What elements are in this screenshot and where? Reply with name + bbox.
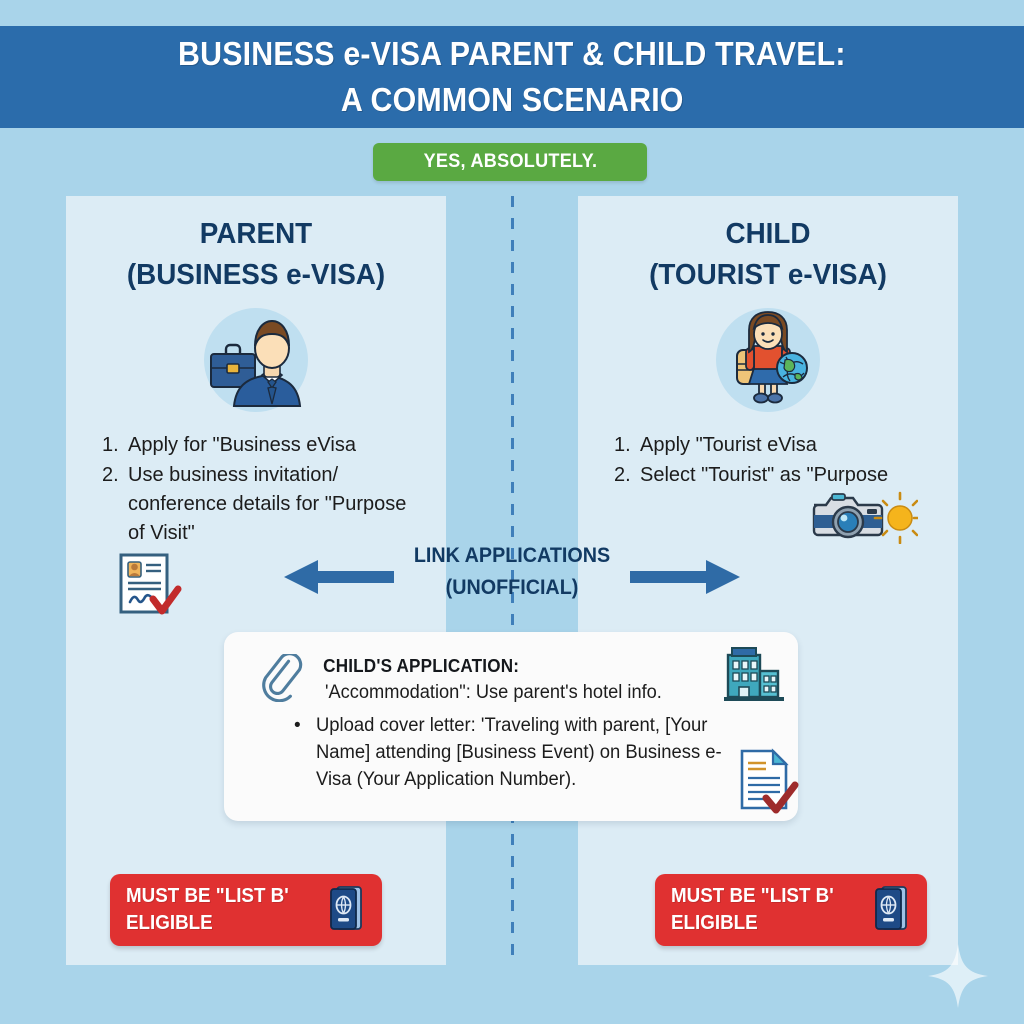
child-title-line-2: (TOURIST e-VISA) xyxy=(586,255,951,296)
list-item: 2. Select "Tourist" as "Purpose xyxy=(614,461,934,490)
hotel-building-icon xyxy=(722,645,786,708)
child-step-1-text: Apply "Tourist eVisa xyxy=(640,431,934,460)
banner-left-label: MUST BE "LIST B' ELIGIBLE xyxy=(110,883,315,937)
answer-badge: YES, ABSOLUTELY. xyxy=(373,143,647,181)
list-b-banner-child: MUST BE "LIST B' ELIGIBLE xyxy=(655,874,927,946)
parent-column-title: PARENT (BUSINESS e-VISA) xyxy=(74,214,439,296)
paperclip-icon xyxy=(262,654,306,707)
parent-steps-list: 1. Apply for "Business eVisa 2. Use busi… xyxy=(102,431,422,549)
parent-title-line-2: (BUSINESS e-VISA) xyxy=(74,255,439,296)
link-label-line-1: LINK APPLICATIONS xyxy=(405,540,619,572)
id-document-signed-icon xyxy=(118,552,184,627)
parent-step-2-number: 2. xyxy=(102,461,128,548)
banner-left-line-1: MUST BE "LIST B' xyxy=(126,883,315,910)
page-title-line-1: BUSINESS e-VISA PARENT & CHILD TRAVEL: xyxy=(178,31,846,77)
banner-left-line-2: ELIGIBLE xyxy=(126,910,315,937)
child-column-title: CHILD (TOURIST e-VISA) xyxy=(586,214,951,296)
childs-application-callout: CHILD'S APPLICATION: 'Accommodation": Us… xyxy=(224,632,798,821)
banner-right-line-1: MUST BE "LIST B' xyxy=(671,883,860,910)
parent-title-line-1: PARENT xyxy=(200,218,312,250)
link-applications-label: LINK APPLICATIONS (UNOFFICIAL) xyxy=(405,540,619,604)
callout-subline: 'Accommodation": Use parent's hotel info… xyxy=(325,682,662,704)
parent-step-1-text: Apply for "Business eVisa xyxy=(128,431,422,460)
link-label-line-2: (UNOFFICIAL) xyxy=(405,572,619,604)
bullet-marker: • xyxy=(294,712,316,793)
child-steps-list: 1. Apply "Tourist eVisa 2. Select "Touri… xyxy=(614,431,934,491)
camera-sun-icon xyxy=(810,488,918,549)
callout-bullet-item: • Upload cover letter: 'Traveling with p… xyxy=(294,712,744,793)
child-step-1-number: 1. xyxy=(614,431,640,460)
child-title-line-1: CHILD xyxy=(725,218,810,250)
list-item: 1. Apply for "Business eVisa xyxy=(102,431,422,460)
link-applications-section: LINK APPLICATIONS (UNOFFICIAL) xyxy=(280,540,744,610)
answer-badge-label: YES, ABSOLUTELY. xyxy=(423,151,597,173)
infographic-canvas: BUSINESS e-VISA PARENT & CHILD TRAVEL: A… xyxy=(0,0,1024,1024)
banner-right-label: MUST BE "LIST B' ELIGIBLE xyxy=(655,883,860,937)
arrow-left-icon xyxy=(284,560,394,599)
page-title-line-2: A COMMON SCENARIO xyxy=(341,77,684,123)
list-item: 2. Use business invitation/ conference d… xyxy=(102,461,422,548)
businessman-avatar-icon xyxy=(204,308,308,412)
header-banner: BUSINESS e-VISA PARENT & CHILD TRAVEL: A… xyxy=(0,26,1024,128)
passport-icon xyxy=(328,884,364,937)
child-traveler-avatar-icon xyxy=(716,308,820,412)
passport-icon xyxy=(873,884,909,937)
callout-bullet-text: Upload cover letter: 'Traveling with par… xyxy=(316,712,731,793)
child-step-2-number: 2. xyxy=(614,461,640,490)
sparkle-icon xyxy=(928,944,988,1013)
child-step-2-text: Select "Tourist" as "Purpose xyxy=(640,461,934,490)
parent-step-2-text: Use business invitation/ conference deta… xyxy=(128,461,422,548)
callout-heading: CHILD'S APPLICATION: xyxy=(323,656,519,677)
list-item: 1. Apply "Tourist eVisa xyxy=(614,431,934,460)
parent-step-1-number: 1. xyxy=(102,431,128,460)
banner-right-line-2: ELIGIBLE xyxy=(671,910,860,937)
arrow-right-icon xyxy=(630,560,740,599)
document-checked-icon xyxy=(738,748,800,819)
list-b-banner-parent: MUST BE "LIST B' ELIGIBLE xyxy=(110,874,382,946)
